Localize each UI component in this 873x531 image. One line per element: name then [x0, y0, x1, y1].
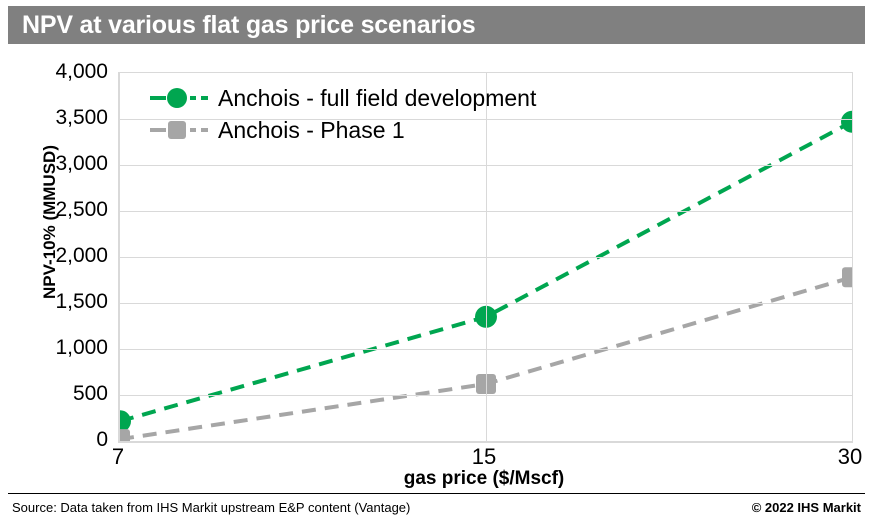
legend-item[interactable]: Anchois - full field development [148, 82, 536, 114]
y-axis-tick-label: 0 [12, 428, 108, 452]
y-axis-tick-labels: 05001,0001,5002,0002,5003,0003,5004,000 [8, 72, 108, 440]
copyright-note: © 2022 IHS Markit [752, 500, 861, 515]
square-marker [120, 429, 130, 441]
x-axis-title: gas price ($/Mscf) [118, 468, 850, 490]
x-axis-tick-label: 7 [112, 444, 124, 470]
y-axis-tick-label: 3,000 [12, 152, 108, 176]
legend-item-label: Anchois - Phase 1 [218, 117, 405, 144]
y-axis-tick-label: 1,500 [12, 290, 108, 314]
y-axis-tick-label: 4,000 [12, 60, 108, 84]
circle-marker [148, 87, 210, 109]
y-axis-tick-label: 500 [12, 382, 108, 406]
plot-panel: NPV-10% (MMUSD) 05001,0001,5002,0002,500… [8, 44, 865, 487]
legend-item-label: Anchois - full field development [218, 85, 536, 112]
y-axis-tick-label: 1,000 [12, 336, 108, 360]
footer-divider [8, 493, 865, 494]
y-axis-tick-label: 2,500 [12, 198, 108, 222]
y-axis-tick-label: 2,000 [12, 244, 108, 268]
chart-legend: Anchois - full field developmentAnchois … [148, 82, 536, 146]
chart-figure: NPV at various flat gas price scenarios … [0, 0, 873, 531]
square-marker [148, 119, 210, 141]
x-axis-tick-label: 15 [472, 444, 496, 470]
circle-marker [120, 410, 131, 432]
square-marker [842, 267, 852, 287]
page-title: NPV at various flat gas price scenarios [22, 11, 476, 40]
y-axis-tick-label: 3,500 [12, 106, 108, 130]
circle-marker [841, 111, 852, 133]
source-note: Source: Data taken from IHS Markit upstr… [12, 500, 410, 515]
chart-title-bar: NPV at various flat gas price scenarios [8, 6, 865, 44]
x-axis-tick-label: 30 [838, 444, 862, 470]
legend-item[interactable]: Anchois - Phase 1 [148, 114, 536, 146]
